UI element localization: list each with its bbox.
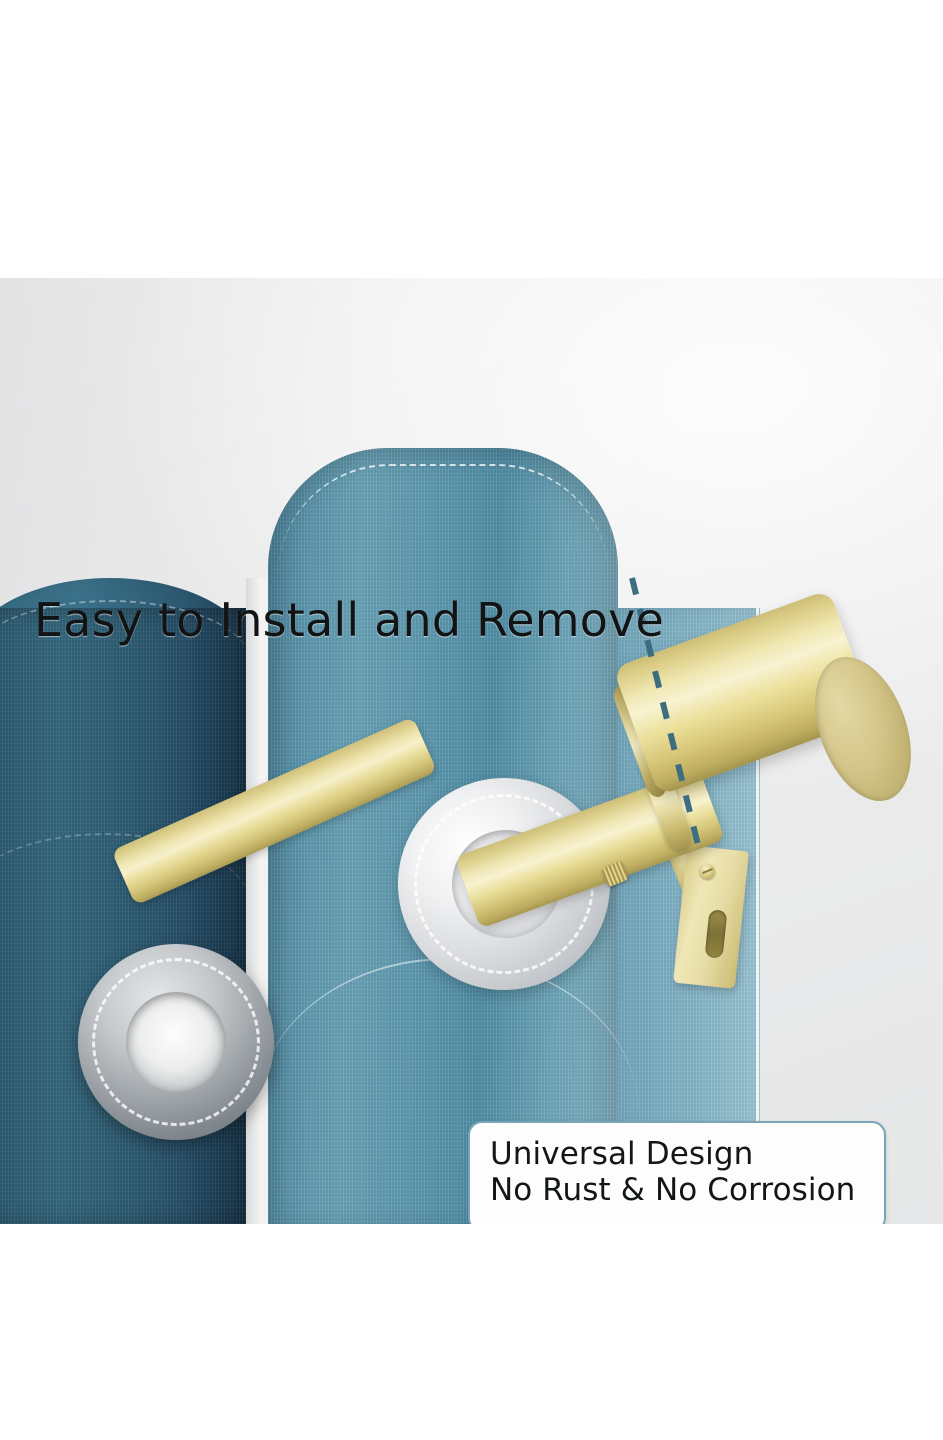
- dashed-leader-line: [0, 278, 943, 1224]
- callout-1-line-2: No Rust & No Corrosion: [490, 1172, 866, 1208]
- page-title: Easy to Install and Remove: [34, 596, 664, 646]
- callout-universal-design: Universal Design No Rust & No Corrosion: [468, 1121, 886, 1224]
- product-photo: Easy to Install and Remove Universal Des…: [0, 278, 943, 1224]
- callout-1-line-1: Universal Design: [490, 1136, 866, 1172]
